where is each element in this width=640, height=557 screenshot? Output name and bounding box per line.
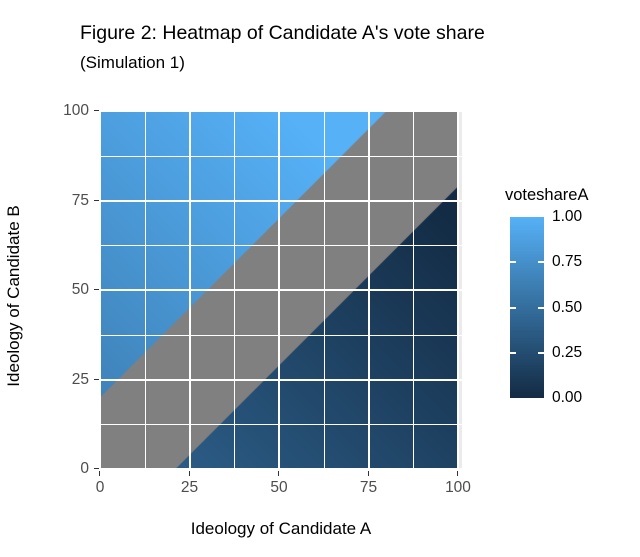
legend-tick-mark bbox=[510, 307, 516, 309]
legend-tick-mark bbox=[538, 352, 544, 354]
y-axis-tick-label: 100 bbox=[63, 102, 89, 120]
x-axis-tick-mark bbox=[99, 471, 100, 476]
legend-tick-label: 1.00 bbox=[552, 208, 582, 226]
x-axis-tick-label: 50 bbox=[270, 479, 287, 497]
legend-tick-mark bbox=[510, 352, 516, 354]
x-axis-tick-mark bbox=[368, 471, 369, 476]
x-axis-title: Ideology of Candidate A bbox=[100, 519, 462, 539]
y-axis-tick-mark bbox=[94, 289, 99, 290]
x-axis-tick-mark bbox=[189, 471, 190, 476]
y-axis-tick-mark bbox=[94, 379, 99, 380]
x-axis-tick-label: 25 bbox=[181, 479, 198, 497]
y-axis-tick-mark bbox=[94, 200, 99, 201]
x-axis-tick-label: 75 bbox=[360, 479, 377, 497]
y-axis-title: Ideology of Candidate B bbox=[4, 115, 24, 477]
y-axis-tick-mark bbox=[94, 468, 99, 469]
legend-title: voteshareA bbox=[505, 186, 588, 205]
legend-tick-label: 0.75 bbox=[552, 253, 582, 271]
plot-subtitle: (Simulation 1) bbox=[80, 52, 185, 74]
y-axis-tick-label: 0 bbox=[80, 460, 89, 478]
y-axis-tick-label: 50 bbox=[72, 281, 89, 299]
legend-tick-mark bbox=[510, 261, 516, 263]
y-axis-tick-label: 75 bbox=[72, 192, 89, 210]
legend-tick-label: 0.25 bbox=[552, 344, 582, 362]
legend-tick-mark bbox=[538, 307, 544, 309]
x-axis-tick-mark bbox=[457, 471, 458, 476]
legend-tick-mark bbox=[538, 261, 544, 263]
x-axis-tick-label: 100 bbox=[445, 479, 471, 497]
legend-tick-label: 0.50 bbox=[552, 299, 582, 317]
y-axis-tick-label: 25 bbox=[72, 371, 89, 389]
plot-panel bbox=[100, 110, 462, 470]
y-axis-tick-mark bbox=[94, 110, 99, 111]
page-title: Figure 2: Heatmap of Candidate A's vote … bbox=[80, 20, 600, 46]
x-axis-tick-label: 0 bbox=[96, 479, 105, 497]
heatmap-raster bbox=[100, 111, 458, 469]
x-axis-tick-mark bbox=[278, 471, 279, 476]
legend-tick-label: 0.00 bbox=[552, 389, 582, 407]
